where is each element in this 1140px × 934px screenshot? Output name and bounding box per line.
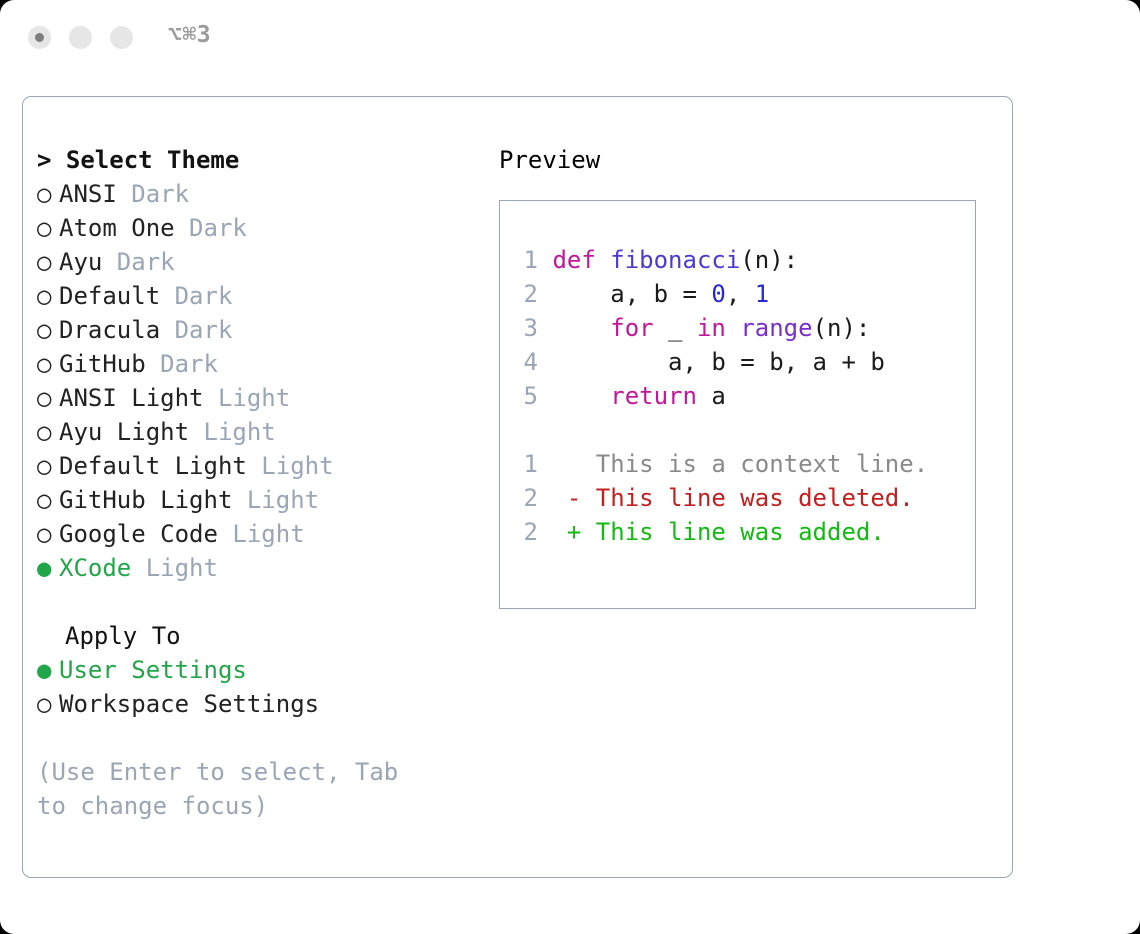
code-line-number: 5 — [516, 379, 538, 413]
code-line-number: 3 — [516, 311, 538, 345]
code-token-kw: in — [697, 314, 726, 342]
theme-option-label: Default Light — [59, 452, 247, 480]
code-token-pl — [552, 314, 610, 342]
window-titlebar: ⌥⌘3 — [0, 0, 1140, 78]
code-token-pl: a, b = b, a + b — [552, 348, 884, 376]
diff-sample: 1 This is a context line.2 - This line w… — [516, 447, 969, 549]
window-dot-icon-2[interactable] — [69, 26, 92, 49]
code-token-num: 1 — [755, 280, 769, 308]
code-token-pl: , — [726, 280, 755, 308]
keyboard-shortcut-label: ⌥⌘3 — [168, 22, 211, 48]
code-token-pl — [552, 382, 610, 410]
code-token-pl — [726, 314, 740, 342]
theme-option-xcode[interactable]: ●XCode Light — [37, 551, 487, 585]
theme-option-label: XCode — [59, 554, 131, 582]
code-token-kw: def — [552, 246, 610, 274]
theme-option-atom-one[interactable]: ○Atom One Dark — [37, 211, 487, 245]
diff-sign: - — [567, 484, 581, 512]
code-token-pl: _ — [654, 314, 697, 342]
theme-option-dracula[interactable]: ○Dracula Dark — [37, 313, 487, 347]
code-line-number: 4 — [516, 345, 538, 379]
theme-option-kind: Light — [189, 418, 276, 446]
radio-selected-icon: ● — [37, 653, 59, 687]
radio-unselected-icon: ○ — [37, 483, 59, 517]
code-token-fn: fibonacci — [610, 246, 740, 274]
theme-option-kind: Dark — [102, 248, 174, 276]
radio-unselected-icon: ○ — [37, 449, 59, 483]
theme-option-google-code[interactable]: ○Google Code Light — [37, 517, 487, 551]
diff-line: 1 This is a context line. — [516, 447, 969, 481]
code-line: 5 return a — [516, 379, 969, 413]
theme-option-default[interactable]: ○Default Dark — [37, 279, 487, 313]
theme-option-kind: Light — [218, 520, 305, 548]
diff-sign — [567, 450, 581, 478]
code-line: 3 for _ in range(n): — [516, 311, 969, 345]
theme-option-label: Ayu — [59, 248, 102, 276]
theme-option-kind: Light — [232, 486, 319, 514]
theme-option-kind: Light — [204, 384, 291, 412]
theme-option-github-light[interactable]: ○GitHub Light Light — [37, 483, 487, 517]
theme-option-default-light[interactable]: ○Default Light Light — [37, 449, 487, 483]
radio-unselected-icon: ○ — [37, 211, 59, 245]
diff-line: 2 + This line was added. — [516, 515, 969, 549]
apply-to-option-user-settings[interactable]: ●User Settings — [37, 653, 487, 687]
code-token-num: 0 — [711, 280, 725, 308]
apply-to-option-list: ●User Settings○Workspace Settings — [37, 653, 487, 721]
theme-list-column: > Select Theme ○ANSI Dark○Atom One Dark○… — [37, 143, 487, 823]
code-preview-area: 1 def fibonacci(n):2 a, b = 0, 13 for _ … — [516, 243, 969, 549]
theme-option-label: Ayu Light — [59, 418, 189, 446]
diff-text: This line was added. — [581, 518, 884, 546]
diff-text: This line was deleted. — [581, 484, 913, 512]
theme-option-label: Atom One — [59, 214, 175, 242]
apply-to-header: Apply To — [37, 619, 487, 653]
theme-option-github[interactable]: ○GitHub Dark — [37, 347, 487, 381]
theme-option-kind: Dark — [160, 316, 232, 344]
code-token-pl: a, b = — [552, 280, 711, 308]
apply-to-option-label: User Settings — [59, 656, 247, 684]
code-token-pl: (n): — [740, 246, 798, 274]
theme-option-kind: Dark — [146, 350, 218, 378]
diff-line-number: 2 — [516, 515, 538, 549]
code-token-pl: (n): — [813, 314, 871, 342]
preview-column: Preview 1 def fibonacci(n):2 a, b = 0, 1… — [499, 143, 999, 609]
theme-option-label: GitHub — [59, 350, 146, 378]
code-line-number: 2 — [516, 277, 538, 311]
theme-option-label: ANSI Light — [59, 384, 204, 412]
apply-to-option-workspace-settings[interactable]: ○Workspace Settings — [37, 687, 487, 721]
code-sample: 1 def fibonacci(n):2 a, b = 0, 13 for _ … — [516, 243, 969, 413]
terminal-window: ⌥⌘3 > Select Theme ○ANSI Dark○Atom One D… — [0, 0, 1140, 934]
theme-option-kind: Dark — [117, 180, 189, 208]
radio-unselected-icon: ○ — [37, 279, 59, 313]
code-line-number: 1 — [516, 243, 538, 277]
theme-option-label: ANSI — [59, 180, 117, 208]
theme-option-ayu-light[interactable]: ○Ayu Light Light — [37, 415, 487, 449]
code-token-kw: return — [610, 382, 697, 410]
theme-option-kind: Light — [131, 554, 218, 582]
radio-unselected-icon: ○ — [37, 177, 59, 211]
window-dot-active-icon[interactable] — [28, 26, 51, 49]
code-token-pl: a — [697, 382, 726, 410]
code-token-kw: for — [610, 314, 653, 342]
code-line: 1 def fibonacci(n): — [516, 243, 969, 277]
code-token-bi: range — [740, 314, 812, 342]
theme-option-label: GitHub Light — [59, 486, 232, 514]
radio-unselected-icon: ○ — [37, 687, 59, 721]
theme-picker-panel: > Select Theme ○ANSI Dark○Atom One Dark○… — [22, 96, 1013, 878]
preview-box: 1 def fibonacci(n):2 a, b = 0, 13 for _ … — [499, 200, 976, 609]
radio-unselected-icon: ○ — [37, 415, 59, 449]
preview-title: Preview — [499, 143, 999, 177]
theme-option-ansi-light[interactable]: ○ANSI Light Light — [37, 381, 487, 415]
diff-line: 2 - This line was deleted. — [516, 481, 969, 515]
section-spacer — [37, 585, 487, 619]
diff-sign: + — [567, 518, 581, 546]
theme-option-ayu[interactable]: ○Ayu Dark — [37, 245, 487, 279]
code-diff-spacer — [516, 413, 969, 447]
window-dot-icon-3[interactable] — [110, 26, 133, 49]
radio-unselected-icon: ○ — [37, 313, 59, 347]
radio-selected-icon: ● — [37, 551, 59, 585]
theme-option-kind: Light — [247, 452, 334, 480]
code-line: 4 a, b = b, a + b — [516, 345, 969, 379]
window-controls — [28, 26, 133, 49]
theme-option-label: Google Code — [59, 520, 218, 548]
select-theme-header: > Select Theme — [37, 143, 487, 177]
theme-option-label: Dracula — [59, 316, 160, 344]
radio-unselected-icon: ○ — [37, 517, 59, 551]
code-line: 2 a, b = 0, 1 — [516, 277, 969, 311]
theme-option-kind: Dark — [160, 282, 232, 310]
radio-unselected-icon: ○ — [37, 381, 59, 415]
apply-to-option-label: Workspace Settings — [59, 690, 319, 718]
theme-option-ansi[interactable]: ○ANSI Dark — [37, 177, 487, 211]
theme-option-list: ○ANSI Dark○Atom One Dark○Ayu Dark○Defaul… — [37, 177, 487, 585]
theme-option-label: Default — [59, 282, 160, 310]
theme-option-kind: Dark — [175, 214, 247, 242]
diff-line-number: 1 — [516, 447, 538, 481]
keyboard-hint-text: (Use Enter to select, Tab to change focu… — [37, 755, 437, 823]
diff-line-number: 2 — [516, 481, 538, 515]
diff-text: This is a context line. — [581, 450, 928, 478]
radio-unselected-icon: ○ — [37, 347, 59, 381]
radio-unselected-icon: ○ — [37, 245, 59, 279]
